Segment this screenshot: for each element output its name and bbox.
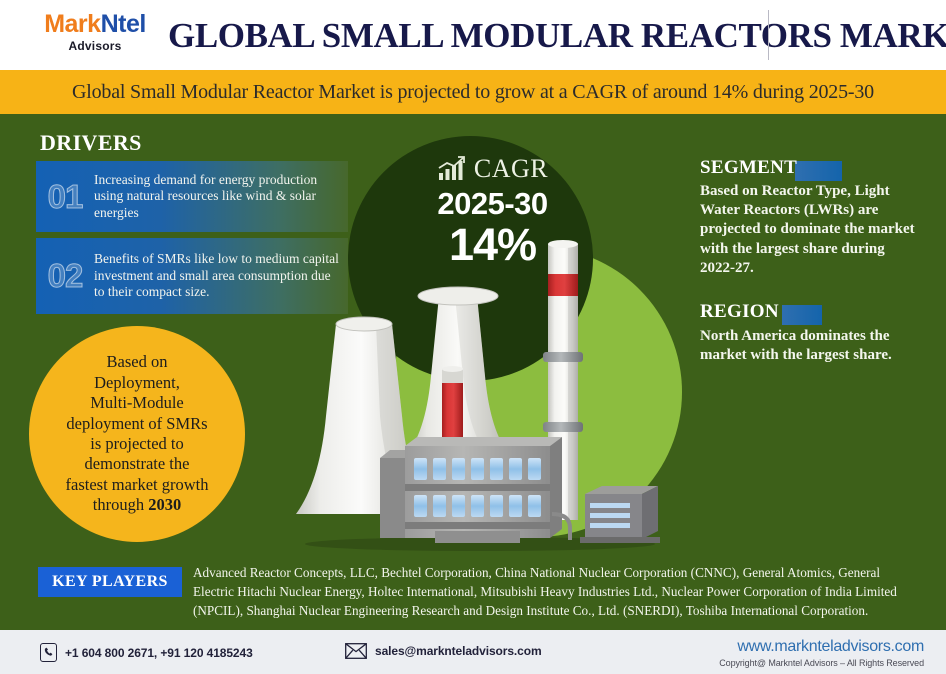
segment-heading-bar — [795, 161, 842, 181]
deployment-line-3: Multi-Module — [90, 393, 184, 412]
region-heading: REGION — [700, 301, 779, 323]
phone-icon — [40, 643, 57, 662]
deployment-year-highlight: 2030 — [148, 495, 181, 514]
footer-website-link[interactable]: www.marknteladvisors.com — [719, 638, 924, 656]
logo-mark-text: Mark — [44, 10, 100, 38]
key-players-badge: KEY PLAYERS — [38, 567, 182, 597]
region-text: North America dominates the market with … — [700, 327, 900, 365]
drivers-heading: DRIVERS — [40, 130, 142, 156]
deployment-line-8: through — [93, 495, 144, 514]
segment-text: Based on Reactor Type, Light Water React… — [700, 182, 915, 278]
key-players-text: Advanced Reactor Concepts, LLC, Bechtel … — [193, 563, 919, 620]
driver-card-1: 01 Increasing demand for energy producti… — [36, 161, 348, 232]
envelope-icon — [345, 643, 367, 659]
footer-site-group: www.marknteladvisors.com Copyright@ Mark… — [719, 638, 924, 668]
deployment-line-5: is projected to — [90, 434, 183, 453]
header-bar: MarkNtel Advisors GLOBAL SMALL MODULAR R… — [0, 0, 946, 70]
driver-card-2: 02 Benefits of SMRs like low to medium c… — [36, 238, 348, 314]
footer-phone-group: +1 604 800 2671, +91 120 4185243 — [40, 643, 253, 662]
infographic-page: MarkNtel Advisors GLOBAL SMALL MODULAR R… — [0, 0, 946, 674]
deployment-callout-circle: Based on Deployment, Multi-Module deploy… — [29, 326, 245, 542]
footer-email-group: sales@marknteladvisors.com — [345, 643, 542, 659]
deployment-line-1: Based on — [107, 352, 168, 371]
band-text: Global Small Modular Reactor Market is p… — [0, 70, 946, 114]
driver-text-2: Benefits of SMRs like low to medium capi… — [94, 251, 348, 300]
driver-number-1: 01 — [36, 178, 94, 216]
footer-email-text[interactable]: sales@marknteladvisors.com — [375, 644, 542, 658]
title-divider — [768, 10, 769, 60]
driver-number-2: 02 — [36, 257, 94, 295]
logo-subtitle: Advisors — [30, 40, 160, 52]
cagr-value: 14% — [400, 222, 585, 267]
deployment-line-7: fastest market growth — [66, 475, 209, 494]
deployment-line-4: deployment of SMRs — [66, 414, 207, 433]
cagr-years: 2025-30 — [400, 186, 585, 222]
page-title: GLOBAL SMALL MODULAR REACTORS MARKET — [168, 13, 938, 59]
driver-text-1: Increasing demand for energy production … — [94, 172, 348, 221]
company-logo: MarkNtel Advisors — [30, 12, 160, 52]
region-heading-bar — [782, 305, 822, 325]
body-area: DRIVERS 01 Increasing demand for energy … — [0, 114, 946, 627]
cagr-block: CAGR 2025-30 14% — [400, 154, 585, 267]
bar-chart-growth-icon — [437, 156, 467, 182]
footer-bar: +1 604 800 2671, +91 120 4185243 sales@m… — [0, 627, 946, 674]
deployment-line-6: demonstrate the — [85, 454, 190, 473]
logo-wordmark: MarkNtel — [30, 12, 160, 37]
segment-heading: SEGMENT — [700, 157, 797, 179]
cagr-label: CAGR — [474, 154, 548, 184]
logo-ntel-text: Ntel — [101, 10, 146, 38]
deployment-line-2: Deployment, — [94, 373, 180, 392]
highlight-band: Global Small Modular Reactor Market is p… — [0, 70, 946, 114]
footer-copyright: Copyright@ Markntel Advisors – All Right… — [719, 658, 924, 668]
footer-phone-text[interactable]: +1 604 800 2671, +91 120 4185243 — [65, 646, 253, 660]
deployment-callout-text: Based on Deployment, Multi-Module deploy… — [66, 352, 209, 516]
